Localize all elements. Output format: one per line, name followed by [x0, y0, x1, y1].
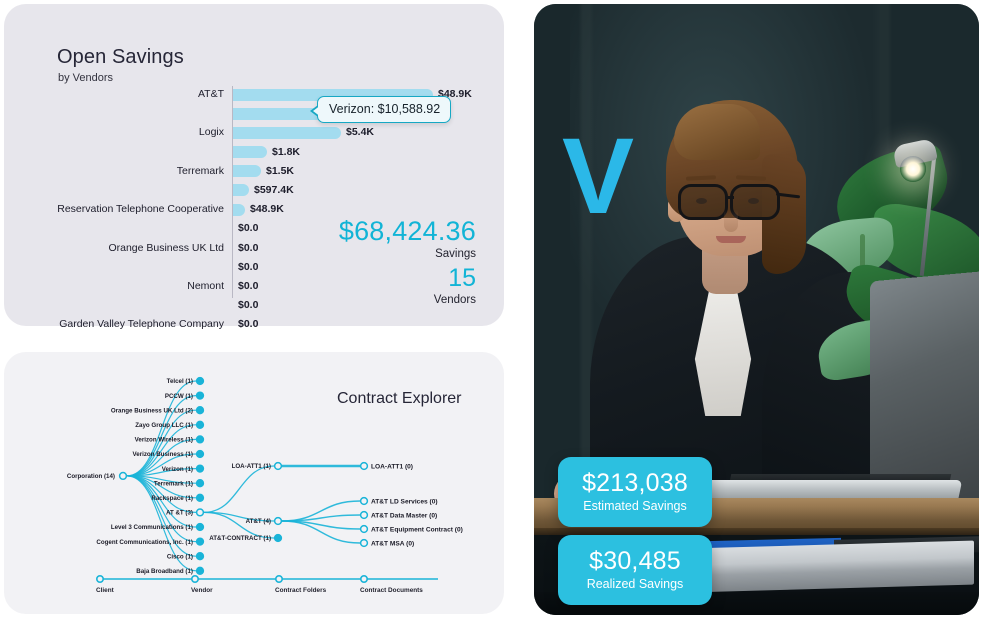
- graph-node-document[interactable]: [361, 512, 368, 519]
- graph-node-vendor[interactable]: [197, 480, 204, 487]
- realized-savings-amount: $30,485: [568, 548, 702, 574]
- graph-node-label: LOA-ATT1 (0): [371, 463, 413, 470]
- bar-category-label: Nemont: [4, 280, 224, 292]
- hero-photo-card: V $213,038 Estimated Savings $30,485 Rea…: [534, 4, 979, 615]
- graph-node-document[interactable]: [361, 540, 368, 547]
- graph-node-vendor[interactable]: [197, 465, 204, 472]
- graph-node-folder[interactable]: [275, 463, 282, 470]
- desk-edge: [534, 528, 979, 535]
- bar-row[interactable]: Terremark$1.5K: [4, 163, 504, 182]
- graph-axis-label: Contract Documents: [360, 587, 423, 594]
- lamp-bulb: [900, 156, 926, 182]
- graph-node-vendor[interactable]: [197, 553, 204, 560]
- eyeglasses-bridge: [726, 196, 734, 199]
- contract-explorer-card: Contract Explorer Corporation (14)Telcel…: [4, 352, 504, 614]
- graph-node-label: AT &T (3): [166, 510, 193, 517]
- left-column: Open Savings by Vendors AT&T$48.9KLogix$…: [0, 0, 512, 619]
- graph-node-client[interactable]: [120, 473, 127, 480]
- bar-row[interactable]: $597.4K: [4, 182, 504, 201]
- bar-category-label: Garden Valley Telephone Company: [4, 318, 224, 330]
- kpi-vendors-value: 15: [304, 266, 476, 291]
- bar-row[interactable]: Garden Valley Telephone Company$0.0: [4, 316, 504, 335]
- realized-savings-badge: $30,485 Realized Savings: [558, 535, 712, 605]
- graph-node-document[interactable]: [361, 498, 368, 505]
- bar-value-label: $0.0: [238, 242, 258, 254]
- graph-node-label: Baja Broadband (1): [136, 568, 193, 575]
- graph-node-label: Level 3 Communications (1): [111, 524, 193, 531]
- realized-savings-label: Realized Savings: [568, 577, 702, 591]
- graph-edge: [204, 466, 274, 512]
- graph-axis-node[interactable]: [192, 576, 198, 582]
- bar-row[interactable]: $1.8K: [4, 144, 504, 163]
- graph-node-label: Cisco (1): [167, 553, 193, 560]
- graph-node-label: Verizon (1): [162, 466, 193, 473]
- contract-explorer-graph[interactable]: Corporation (14)Telcel (1)PCCW (1)Orange…: [4, 352, 504, 614]
- graph-axis-label: Client: [96, 587, 115, 594]
- bar-category-label: Terremark: [4, 165, 224, 177]
- bar[interactable]: [233, 204, 245, 216]
- laptop-screen: [870, 270, 979, 508]
- kpi-savings-label: Savings: [304, 248, 476, 260]
- graph-node-vendor[interactable]: [197, 451, 204, 458]
- graph-node-label: AT&T MSA (0): [371, 540, 414, 547]
- estimated-savings-amount: $213,038: [568, 470, 702, 496]
- bar-value-label: $0.0: [238, 318, 258, 330]
- estimated-savings-badge: $213,038 Estimated Savings: [558, 457, 712, 527]
- graph-node-vendor[interactable]: [197, 567, 204, 574]
- graph-node-label: AT&T (4): [246, 518, 271, 525]
- graph-node-vendor[interactable]: [197, 407, 204, 414]
- bar-category-label: Orange Business UK Ltd: [4, 242, 224, 254]
- estimated-savings-label: Estimated Savings: [568, 499, 702, 513]
- graph-node-label: Zayo Group LLC (1): [135, 422, 193, 429]
- graph-node-vendor[interactable]: [197, 436, 204, 443]
- open-savings-subtitle: by Vendors: [58, 72, 113, 84]
- person-hair-front: [674, 104, 760, 160]
- graph-node-label: LOA-ATT1 (1): [232, 463, 271, 470]
- bar[interactable]: [233, 165, 261, 177]
- graph-node-label: Verizon Wireless (1): [135, 437, 193, 444]
- graph-axis-label: Vendor: [191, 587, 213, 594]
- graph-node-vendor[interactable]: [197, 494, 204, 501]
- bar-value-label: $597.4K: [254, 184, 294, 196]
- graph-node-label: AT&T Data Master (0): [371, 512, 437, 519]
- bar-value-label: $0.0: [238, 280, 258, 292]
- graph-axis-label: Contract Folders: [275, 587, 327, 594]
- kpi-vendors-label: Vendors: [304, 294, 476, 306]
- graph-node-label: Telcel (1): [167, 378, 193, 385]
- graph-node-label: AT&T LD Services (0): [371, 498, 438, 505]
- open-savings-card: Open Savings by Vendors AT&T$48.9KLogix$…: [4, 4, 504, 326]
- graph-node-label: Cogent Communications, Inc. (1): [96, 539, 193, 546]
- graph-nodes[interactable]: Corporation (14)Telcel (1)PCCW (1)Orange…: [67, 378, 463, 575]
- graph-node-folder[interactable]: [275, 518, 282, 525]
- bar[interactable]: [233, 146, 267, 158]
- person-nose: [724, 210, 738, 232]
- graph-node-folder[interactable]: [275, 535, 282, 542]
- graph-axis-node[interactable]: [361, 576, 367, 582]
- kpi-savings: $68,424.36 Savings: [304, 218, 476, 260]
- graph-node-label: AT&T Equipment Contract (0): [371, 526, 463, 533]
- graph-node-vendor[interactable]: [197, 524, 204, 531]
- bar-value-label: $0.0: [238, 261, 258, 273]
- open-savings-title: Open Savings: [57, 46, 184, 69]
- kpi-vendors: 15 Vendors: [304, 266, 476, 306]
- graph-node-vendor[interactable]: [197, 509, 204, 516]
- bar[interactable]: [233, 127, 341, 139]
- graph-node-label: Rackspace (1): [151, 495, 193, 502]
- bar-value-label: $1.5K: [266, 165, 294, 177]
- eyeglasses-lens: [678, 184, 728, 220]
- bar[interactable]: [233, 184, 249, 196]
- graph-node-label: Terremark (1): [154, 480, 193, 487]
- bar-category-label: Logix: [4, 126, 224, 138]
- graph-node-label: Corporation (14): [67, 473, 115, 480]
- graph-node-vendor[interactable]: [197, 378, 204, 385]
- graph-node-document[interactable]: [361, 463, 368, 470]
- bar-value-label: $0.0: [238, 299, 258, 311]
- kpi-savings-value: $68,424.36: [304, 218, 476, 245]
- graph-node-label: Verizon Business (1): [132, 451, 193, 458]
- graph-node-vendor[interactable]: [197, 392, 204, 399]
- bar-value-label: $5.4K: [346, 126, 374, 138]
- graph-node-label: Orange Business UK Ltd (2): [111, 407, 193, 414]
- graph-axis-node[interactable]: [97, 576, 103, 582]
- dashboard-page: Open Savings by Vendors AT&T$48.9KLogix$…: [0, 0, 983, 619]
- brand-watermark-v: V: [562, 122, 630, 230]
- bar-category-label: Reservation Telephone Cooperative: [4, 203, 224, 215]
- bar-category-label: AT&T: [4, 88, 224, 100]
- bar-row[interactable]: Logix$5.4K: [4, 124, 504, 143]
- graph-node-document[interactable]: [361, 526, 368, 533]
- person-mouth: [716, 236, 746, 243]
- graph-node-label: PCCW (1): [165, 393, 193, 400]
- graph-node-vendor[interactable]: [197, 538, 204, 545]
- bar-value-label: $1.8K: [272, 146, 300, 158]
- graph-axis: ClientVendorContract FoldersContract Doc…: [96, 576, 438, 594]
- graph-edge: [282, 515, 360, 521]
- chart-tooltip: Verizon: $10,588.92: [317, 96, 451, 123]
- graph-node-vendor[interactable]: [197, 421, 204, 428]
- graph-node-label: AT&T-CONTRACT (1): [209, 535, 271, 542]
- bar-value-label: $0.0: [238, 222, 258, 234]
- bar-value-label: $48.9K: [250, 203, 284, 215]
- graph-axis-node[interactable]: [276, 576, 282, 582]
